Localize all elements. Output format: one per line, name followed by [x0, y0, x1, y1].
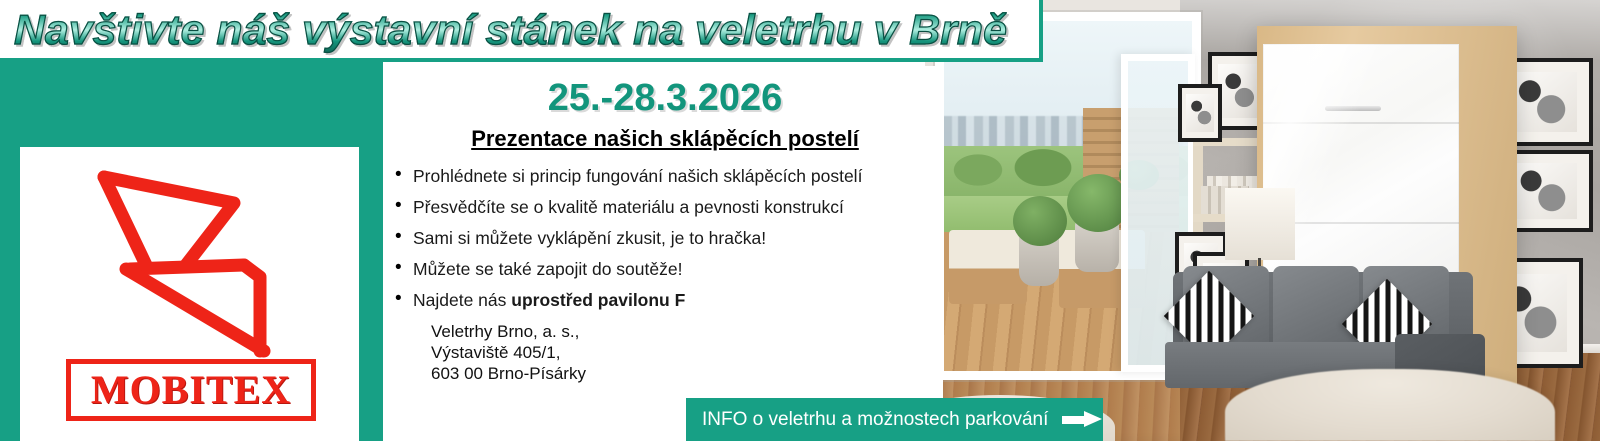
info-parking-button[interactable]: INFO o veletrhu a možnostech parkování: [686, 398, 1103, 441]
photo-sofa-cushion: [1273, 266, 1359, 352]
list-item: Můžete se také zapojit do soutěže!: [395, 259, 943, 279]
photo-rug: [1225, 369, 1555, 441]
chair-icon: [68, 161, 318, 361]
event-subtitle: Prezentace našich sklápěcích postelí: [387, 126, 943, 152]
list-item-emphasis: uprostřed pavilonu F: [511, 290, 685, 310]
photo-lamp-shade: [1225, 188, 1295, 260]
mobitex-wordmark-text: MOBITEX: [91, 370, 291, 410]
benefits-list: Prohlédnete si princip fungování našich …: [387, 166, 943, 310]
list-item-label: Sami si můžete vyklápění zkusit, je to h…: [413, 228, 766, 248]
interior-photo: [925, 0, 1600, 441]
headline-box: Navštivte náš výstavní stánek na veletrh…: [0, 0, 1043, 62]
address-line: 603 00 Brno-Písárky: [431, 363, 943, 384]
address-line: Veletrhy Brno, a. s.,: [431, 321, 943, 342]
list-item-label: Přesvědčíte se o kvalitě materiálu a pev…: [413, 197, 844, 217]
arrow-right-icon: [1062, 412, 1087, 427]
venue-address: Veletrhy Brno, a. s.,Výstaviště 405/1,60…: [431, 321, 943, 384]
page-title: Navštivte náš výstavní stánek na veletrh…: [14, 2, 1007, 58]
logo-panel: MOBITEX: [0, 62, 383, 441]
content-column: 25.-28.3.2026 Prezentace našich sklápěcí…: [387, 66, 943, 441]
list-item: Prohlédnete si princip fungování našich …: [395, 166, 943, 186]
info-parking-label: INFO o veletrhu a možnostech parkování: [702, 409, 1048, 431]
address-line: Výstaviště 405/1,: [431, 342, 943, 363]
list-item-label: Můžete se také zapojit do soutěže!: [413, 259, 682, 279]
list-item: Sami si můžete vyklápění zkusit, je to h…: [395, 228, 943, 248]
list-item: Najdete nás uprostřed pavilonu F: [395, 290, 943, 310]
photo-art-frame: [1178, 84, 1222, 142]
promo-banner: MOBITEX Navštivte náš výstavní stánek na…: [0, 0, 1600, 441]
list-item-label: Prohlédnete si princip fungování našich …: [413, 166, 862, 186]
list-item-label: Najdete nás: [413, 290, 511, 310]
list-item: Přesvědčíte se o kvalitě materiálu a pev…: [395, 197, 943, 217]
mobitex-logo: MOBITEX: [20, 147, 359, 441]
mobitex-wordmark: MOBITEX: [66, 359, 316, 421]
event-date: 25.-28.3.2026: [387, 77, 943, 120]
